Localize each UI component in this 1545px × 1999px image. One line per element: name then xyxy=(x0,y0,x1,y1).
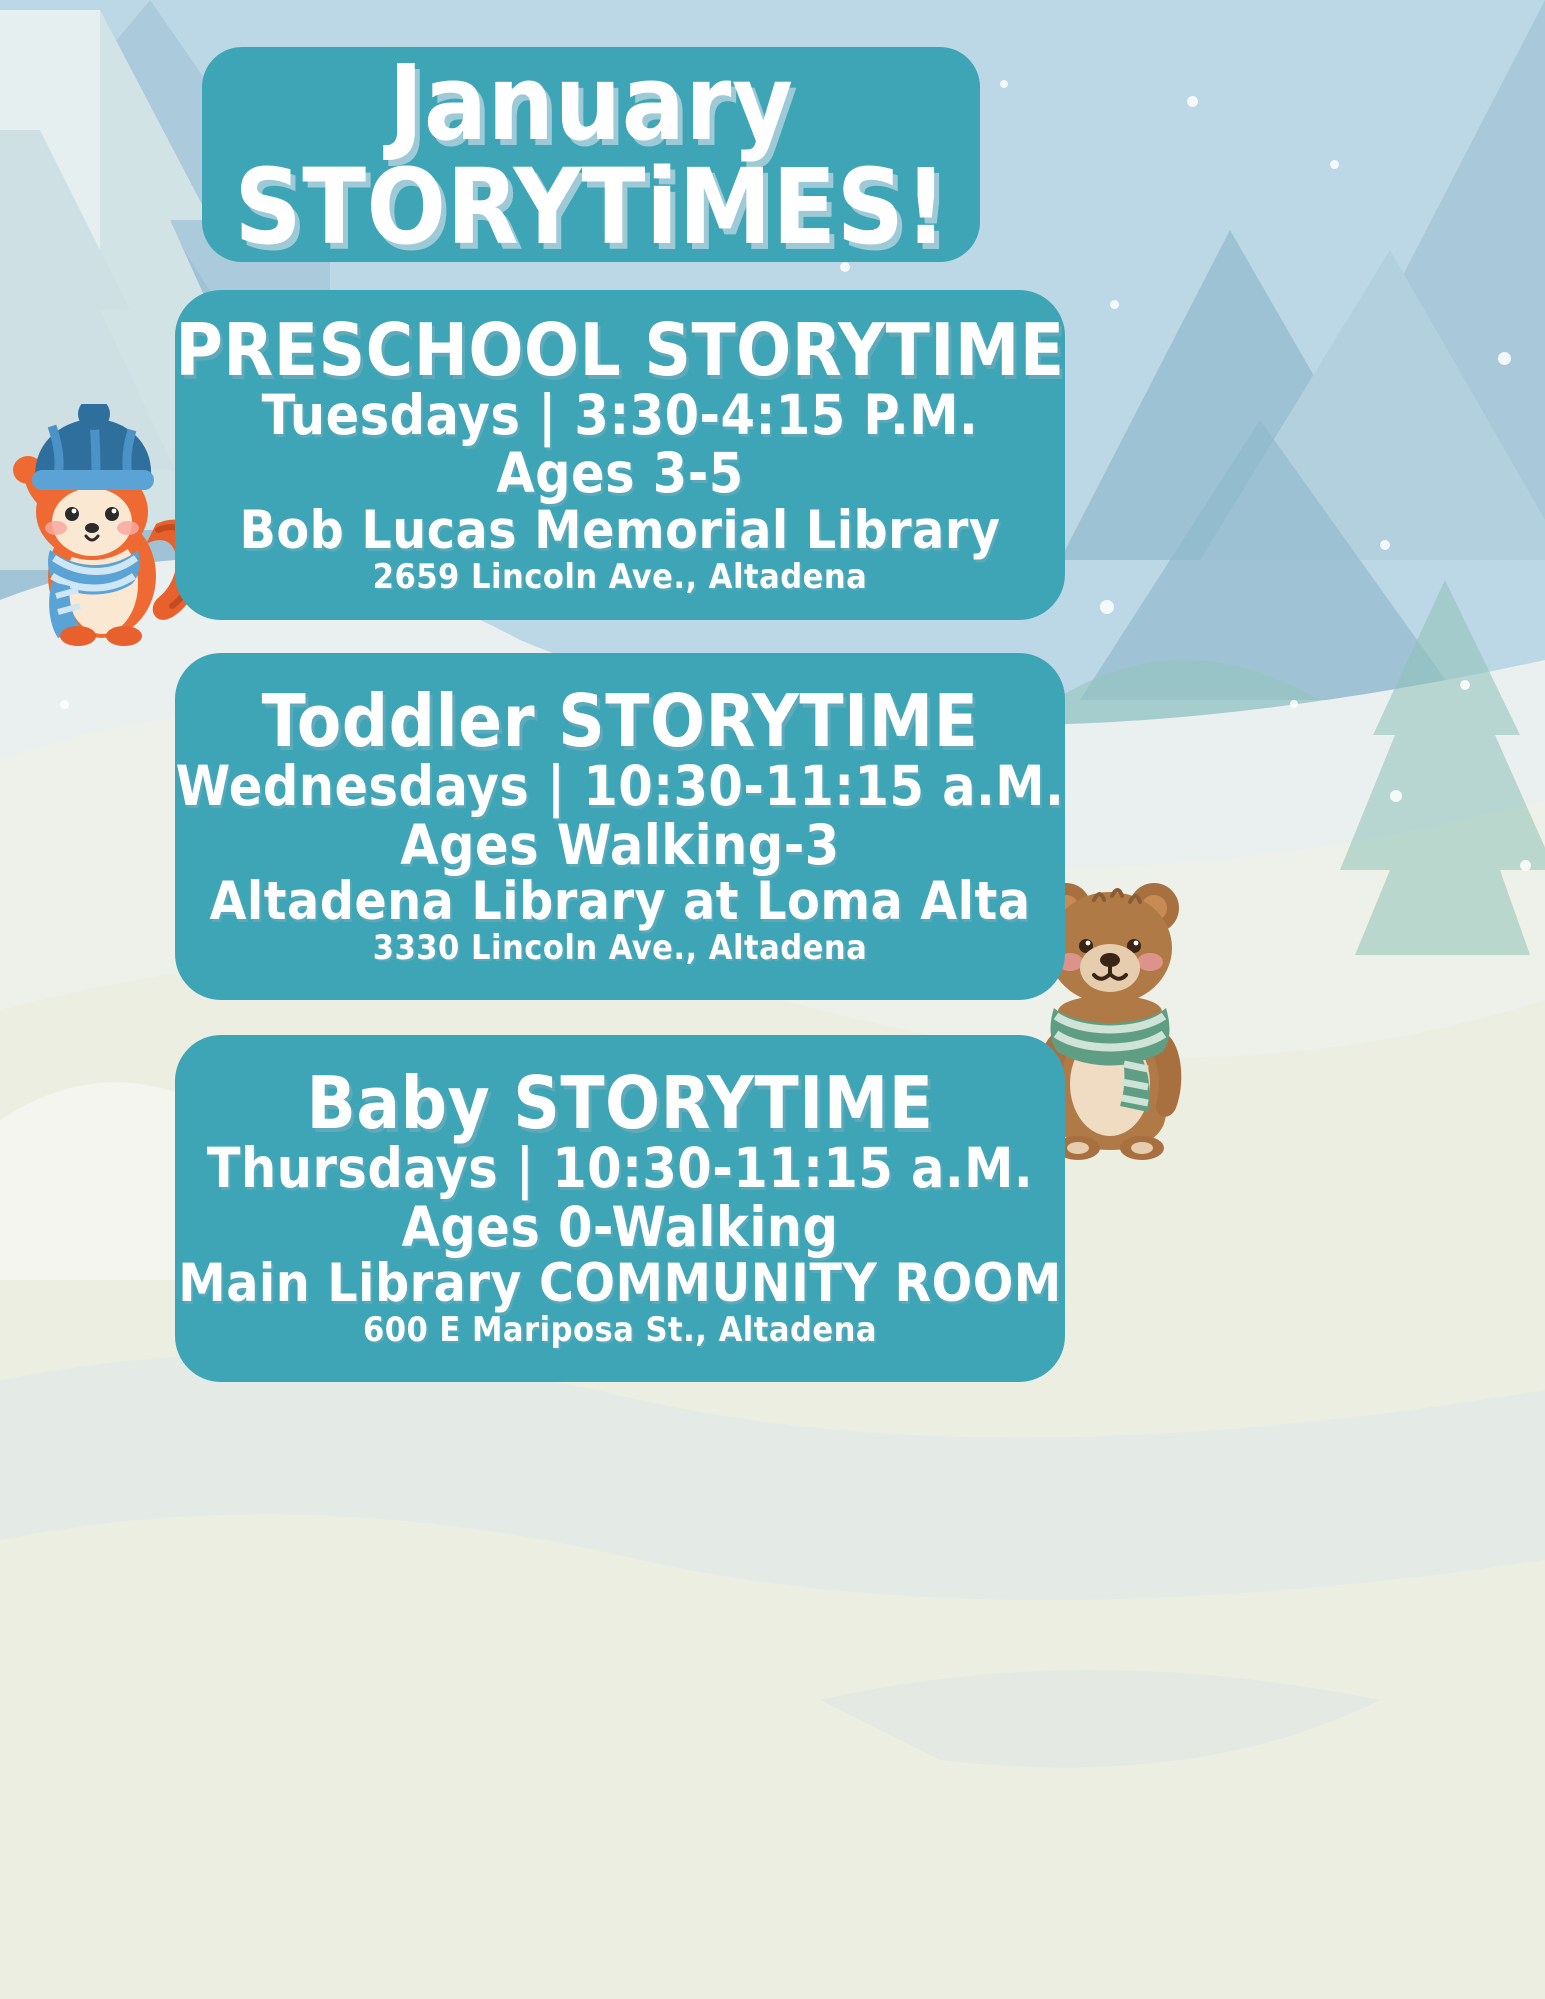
session-card-toddler: Toddler STORYTIME Wednesdays | 10:30-11:… xyxy=(175,653,1065,1000)
session-day-time: Wednesdays | 10:30-11:15 a.M. xyxy=(176,757,1065,815)
session-card-preschool: PRESCHOOL STORYTIME Tuesdays | 3:30-4:15… xyxy=(175,290,1065,620)
session-day-time: Tuesdays | 3:30-4:15 P.M. xyxy=(262,386,979,444)
session-day-time: Thursdays | 10:30-11:15 a.M. xyxy=(207,1139,1033,1197)
session-heading: PRESCHOOL STORYTIME xyxy=(175,314,1064,386)
session-ages: Ages 0-Walking xyxy=(402,1198,839,1256)
session-ages: Ages Walking-3 xyxy=(400,816,839,874)
session-address: 3330 Lincoln Ave., Altadena xyxy=(373,930,868,967)
session-address: 2659 Lincoln Ave., Altadena xyxy=(373,559,868,596)
session-heading: Baby STORYTIME xyxy=(307,1067,934,1139)
title-card: January STORYTiMES! xyxy=(202,47,980,262)
session-address: 600 E Mariposa St., Altadena xyxy=(363,1312,877,1349)
poster-title-line-1: January xyxy=(389,51,794,155)
session-location: Main Library COMMUNITY ROOM xyxy=(178,1256,1061,1312)
session-location: Altadena Library at Loma Alta xyxy=(210,874,1031,930)
session-location: Bob Lucas Memorial Library xyxy=(240,503,1001,559)
footer: Altadena Libraries AltadenaLibrary.org/c… xyxy=(0,1699,1545,1999)
poster-canvas: January STORYTiMES! PRESCHOOL STORYTIME … xyxy=(0,0,1545,1999)
session-ages: Ages 3-5 xyxy=(496,444,743,502)
session-heading: Toddler STORYTIME xyxy=(262,685,979,757)
session-card-baby: Baby STORYTIME Thursdays | 10:30-11:15 a… xyxy=(175,1035,1065,1382)
poster-title-line-2: STORYTiMES! xyxy=(234,155,947,259)
